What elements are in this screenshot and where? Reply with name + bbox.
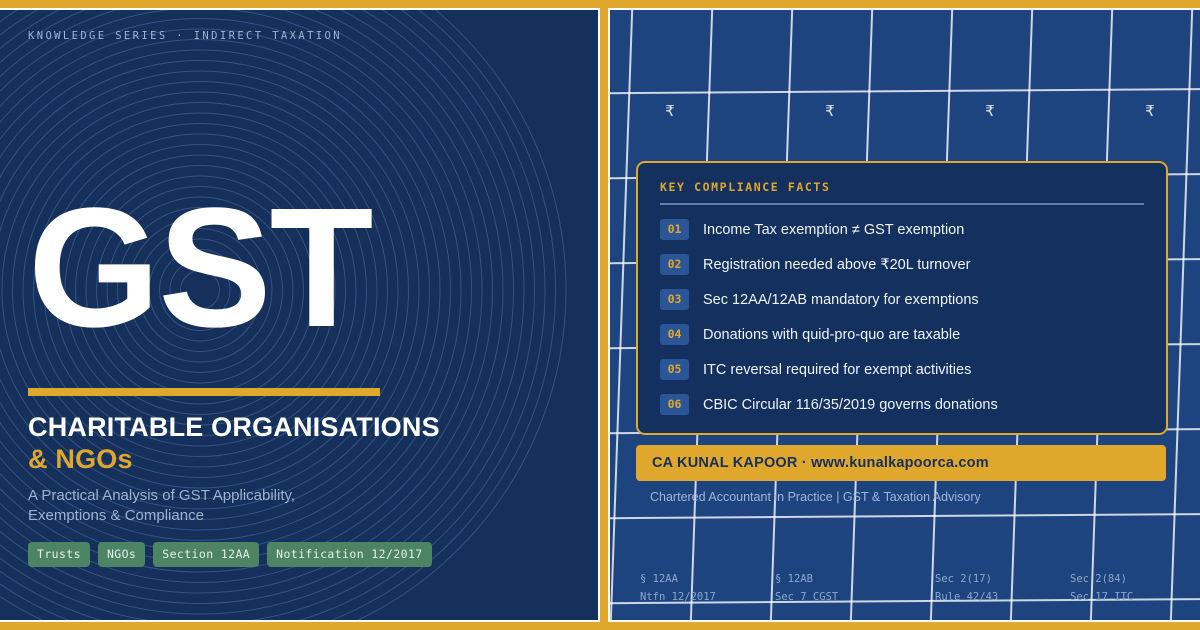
legal-reference-column: § 12ABSec 7 CGST	[775, 570, 935, 607]
signature-caption: Chartered Accountant in Practice | GST &…	[650, 490, 981, 504]
fact-row: 03Sec 12AA/12AB mandatory for exemptions	[660, 289, 1144, 310]
fact-row: 01Income Tax exemption ≠ GST exemption	[660, 219, 1144, 240]
fact-text: Registration needed above ₹20L turnover	[703, 257, 970, 273]
tag-pill[interactable]: Section 12AA	[153, 542, 259, 567]
gst-wordmark: GST	[28, 188, 371, 350]
grid-line-vertical	[1168, 8, 1194, 622]
fact-number-badge: 01	[660, 219, 689, 240]
headline-block: CHARITABLE ORGANISATIONS & NGOs A Practi…	[28, 412, 548, 526]
page-description: A Practical Analysis of GST Applicabilit…	[28, 486, 548, 526]
description-line-2: Exemptions & Compliance	[28, 506, 548, 526]
fact-number-badge: 04	[660, 324, 689, 345]
signature-text: CA KUNAL KAPOOR · www.kunalkapoorca.com	[652, 455, 989, 471]
fact-text: Donations with quid-pro-quo are taxable	[703, 327, 960, 343]
fact-text: CBIC Circular 116/35/2019 governs donati…	[703, 397, 998, 413]
fact-row: 05ITC reversal required for exempt activ…	[660, 359, 1144, 380]
fact-number-badge: 05	[660, 359, 689, 380]
legal-reference-line: Rule 42/43	[935, 588, 1070, 606]
tag-pill[interactable]: NGOs	[98, 542, 145, 567]
signature-bar[interactable]: CA KUNAL KAPOOR · www.kunalkapoorca.com	[636, 445, 1166, 481]
rupee-icon: ₹	[1145, 102, 1155, 120]
legal-reference-column: Sec 2(17)Rule 42/43	[935, 570, 1070, 607]
description-line-1: A Practical Analysis of GST Applicabilit…	[28, 486, 548, 506]
rupee-icon: ₹	[665, 102, 675, 120]
grid-line-horizontal	[608, 87, 1200, 94]
tag-pill[interactable]: Notification 12/2017	[267, 542, 431, 567]
legal-reference-line: Ntfn 12/2017	[640, 588, 775, 606]
fact-text: ITC reversal required for exempt activit…	[703, 362, 971, 378]
left-panel: KNOWLEDGE SERIES · INDIRECT TAXATION GST…	[0, 8, 600, 622]
fact-row: 06CBIC Circular 116/35/2019 governs dona…	[660, 394, 1144, 415]
tag-pill[interactable]: Trusts	[28, 542, 90, 567]
eyebrow-label: KNOWLEDGE SERIES · INDIRECT TAXATION	[28, 30, 570, 42]
fact-text: Sec 12AA/12AB mandatory for exemptions	[703, 292, 979, 308]
rupee-icon: ₹	[985, 102, 995, 120]
facts-list: 01Income Tax exemption ≠ GST exemption02…	[660, 219, 1144, 415]
facts-card-title: KEY COMPLIANCE FACTS	[660, 180, 1144, 194]
legal-reference-line: Sec 17 ITC	[1070, 588, 1133, 606]
key-compliance-facts-card: KEY COMPLIANCE FACTS 01Income Tax exempt…	[636, 161, 1168, 435]
fact-number-badge: 02	[660, 254, 689, 275]
grid-line-vertical	[608, 8, 634, 622]
fact-row: 04Donations with quid-pro-quo are taxabl…	[660, 324, 1144, 345]
tag-list: TrustsNGOsSection 12AANotification 12/20…	[28, 542, 432, 567]
legal-reference-line: § 12AB	[775, 570, 935, 588]
fact-number-badge: 03	[660, 289, 689, 310]
legal-reference-line: § 12AA	[640, 570, 775, 588]
page-title: CHARITABLE ORGANISATIONS	[28, 412, 548, 443]
facts-divider	[660, 203, 1144, 205]
gold-accent-rule	[28, 388, 380, 396]
rupee-icon: ₹	[825, 102, 835, 120]
fact-row: 02Registration needed above ₹20L turnove…	[660, 254, 1144, 275]
fact-text: Income Tax exemption ≠ GST exemption	[703, 222, 964, 238]
page-subtitle-accent: & NGOs	[28, 443, 548, 475]
legal-reference-line: Sec 7 CGST	[775, 588, 935, 606]
grid-line-horizontal	[608, 512, 1200, 519]
poster-canvas: KNOWLEDGE SERIES · INDIRECT TAXATION GST…	[0, 0, 1200, 630]
legal-references: § 12AANtfn 12/2017§ 12ABSec 7 CGSTSec 2(…	[640, 570, 1160, 607]
legal-reference-column: Sec 2(84)Sec 17 ITC	[1070, 570, 1133, 607]
fact-number-badge: 06	[660, 394, 689, 415]
legal-reference-line: Sec 2(17)	[935, 570, 1070, 588]
legal-reference-column: § 12AANtfn 12/2017	[640, 570, 775, 607]
legal-reference-line: Sec 2(84)	[1070, 570, 1133, 588]
